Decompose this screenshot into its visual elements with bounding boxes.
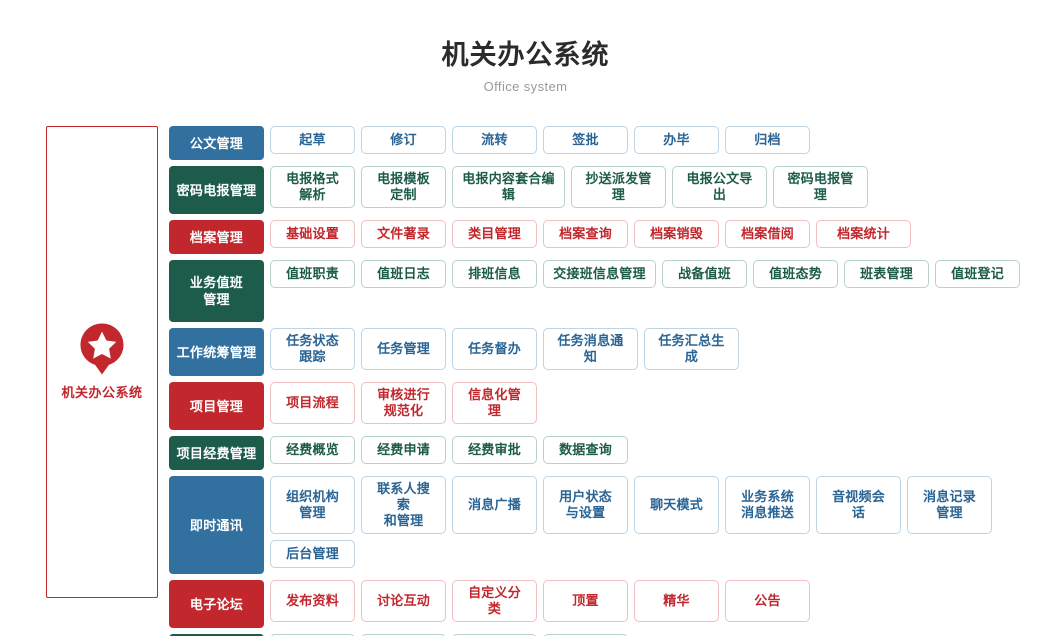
- page-root: 机关办公系统 Office system 机关办公系统 公文管理起草修订流转签批…: [0, 0, 1051, 636]
- module-item-button[interactable]: 战备值班: [662, 260, 747, 288]
- module-item-button[interactable]: 消息记录 管理: [907, 476, 992, 534]
- module-item-button[interactable]: 签批: [543, 126, 628, 154]
- map-pin-star-icon: [79, 323, 125, 375]
- module-item-button[interactable]: 任务汇总生成: [644, 328, 739, 370]
- module-row: 密码电报管理电报格式解析电报模板定制电报内容套合编辑抄送派发管理电报公文导出密码…: [169, 166, 1039, 214]
- module-row: 项目经费管理经费概览经费申请经费审批数据查询: [169, 436, 1039, 470]
- module-item-group: 项目流程审核进行规范化信息化管理: [270, 382, 1039, 430]
- category-button[interactable]: 档案管理: [169, 220, 264, 254]
- category-button[interactable]: 密码电报管理: [169, 166, 264, 214]
- page-title: 机关办公系统: [0, 38, 1051, 72]
- module-item-button[interactable]: 消息广播: [452, 476, 537, 534]
- module-item-button[interactable]: 值班日志: [361, 260, 446, 288]
- module-item-button[interactable]: 值班态势: [753, 260, 838, 288]
- module-item-button[interactable]: 档案借阅: [725, 220, 810, 248]
- category-button[interactable]: 即时通讯: [169, 476, 264, 574]
- category-button[interactable]: 公文管理: [169, 126, 264, 160]
- module-item-button[interactable]: 电报公文导出: [672, 166, 767, 208]
- module-item-button[interactable]: 档案销毁: [634, 220, 719, 248]
- module-item-button[interactable]: 经费审批: [452, 436, 537, 464]
- module-item-button[interactable]: 组织机构 管理: [270, 476, 355, 534]
- module-row: 即时通讯组织机构 管理联系人搜索 和管理消息广播用户状态 与设置聊天模式业务系统…: [169, 476, 1039, 574]
- module-item-button[interactable]: 修订: [361, 126, 446, 154]
- module-item-button[interactable]: 类目管理: [452, 220, 537, 248]
- module-item-button[interactable]: 自定义分类: [452, 580, 537, 622]
- module-item-button[interactable]: 任务督办: [452, 328, 537, 370]
- category-button[interactable]: 业务值班 管理: [169, 260, 264, 322]
- category-button[interactable]: 工作统筹管理: [169, 328, 264, 376]
- page-header: 机关办公系统 Office system: [0, 0, 1051, 96]
- module-item-group: 经费概览经费申请经费审批数据查询: [270, 436, 1039, 470]
- module-item-group: 值班职责值班日志排班信息交接班信息管理战备值班值班态势班表管理值班登记: [270, 260, 1039, 322]
- category-button[interactable]: 电子论坛: [169, 580, 264, 628]
- brand-logo-label: 机关办公系统: [61, 382, 142, 401]
- module-item-button[interactable]: 业务系统 消息推送: [725, 476, 810, 534]
- category-button[interactable]: 项目管理: [169, 382, 264, 430]
- module-row: 项目管理项目流程审核进行规范化信息化管理: [169, 382, 1039, 430]
- sidebar-brand-panel: 机关办公系统: [46, 126, 158, 598]
- module-rows: 公文管理起草修订流转签批办毕归档密码电报管理电报格式解析电报模板定制电报内容套合…: [169, 126, 1039, 636]
- module-item-group: 发布资料讨论互动自定义分类顶置精华公告: [270, 580, 1039, 628]
- module-item-button[interactable]: 联系人搜索 和管理: [361, 476, 446, 534]
- module-item-group: 电报格式解析电报模板定制电报内容套合编辑抄送派发管理电报公文导出密码电报管理: [270, 166, 1039, 214]
- module-item-button[interactable]: 经费申请: [361, 436, 446, 464]
- module-item-button[interactable]: 讨论互动: [361, 580, 446, 622]
- module-item-button[interactable]: 文件著录: [361, 220, 446, 248]
- module-item-button[interactable]: 公告: [725, 580, 810, 622]
- module-item-button[interactable]: 项目流程: [270, 382, 355, 424]
- module-item-button[interactable]: 精华: [634, 580, 719, 622]
- module-item-button[interactable]: 值班登记: [935, 260, 1020, 288]
- module-item-button[interactable]: 值班职责: [270, 260, 355, 288]
- module-item-group: 起草修订流转签批办毕归档: [270, 126, 1039, 160]
- module-item-button[interactable]: 班表管理: [844, 260, 929, 288]
- module-row: 工作统筹管理任务状态跟踪任务管理任务督办任务消息通知任务汇总生成: [169, 328, 1039, 376]
- module-item-group: 组织机构 管理联系人搜索 和管理消息广播用户状态 与设置聊天模式业务系统 消息推…: [270, 476, 1039, 574]
- module-row: 公文管理起草修订流转签批办毕归档: [169, 126, 1039, 160]
- module-row: 业务值班 管理值班职责值班日志排班信息交接班信息管理战备值班值班态势班表管理值班…: [169, 260, 1039, 322]
- module-item-button[interactable]: 基础设置: [270, 220, 355, 248]
- brand-logo: 机关办公系统: [61, 323, 142, 401]
- module-item-button[interactable]: 后台管理: [270, 540, 355, 568]
- module-item-button[interactable]: 审核进行规范化: [361, 382, 446, 424]
- module-item-button[interactable]: 聊天模式: [634, 476, 719, 534]
- module-item-button[interactable]: 办毕: [634, 126, 719, 154]
- module-item-button[interactable]: 经费概览: [270, 436, 355, 464]
- module-item-button[interactable]: 信息化管理: [452, 382, 537, 424]
- module-item-button[interactable]: 顶置: [543, 580, 628, 622]
- module-row: 档案管理基础设置文件著录类目管理档案查询档案销毁档案借阅档案统计: [169, 220, 1039, 254]
- module-item-button[interactable]: 流转: [452, 126, 537, 154]
- module-item-button[interactable]: 数据查询: [543, 436, 628, 464]
- module-item-button[interactable]: 用户状态 与设置: [543, 476, 628, 534]
- module-item-button[interactable]: 音视频会话: [816, 476, 901, 534]
- category-button[interactable]: 项目经费管理: [169, 436, 264, 470]
- module-item-group: 任务状态跟踪任务管理任务督办任务消息通知任务汇总生成: [270, 328, 1039, 376]
- module-item-button[interactable]: 电报模板定制: [361, 166, 446, 208]
- module-item-button[interactable]: 电报格式解析: [270, 166, 355, 208]
- module-item-button[interactable]: 排班信息: [452, 260, 537, 288]
- module-item-button[interactable]: 电报内容套合编辑: [452, 166, 565, 208]
- module-item-button[interactable]: 任务消息通知: [543, 328, 638, 370]
- module-item-button[interactable]: 抄送派发管理: [571, 166, 666, 208]
- module-item-button[interactable]: 发布资料: [270, 580, 355, 622]
- architecture-body: 机关办公系统 公文管理起草修订流转签批办毕归档密码电报管理电报格式解析电报模板定…: [0, 126, 1051, 606]
- module-item-button[interactable]: 任务状态跟踪: [270, 328, 355, 370]
- module-item-button[interactable]: 档案统计: [816, 220, 911, 248]
- module-item-button[interactable]: 档案查询: [543, 220, 628, 248]
- page-subtitle: Office system: [0, 78, 1051, 96]
- module-item-button[interactable]: 起草: [270, 126, 355, 154]
- module-row: 电子论坛发布资料讨论互动自定义分类顶置精华公告: [169, 580, 1039, 628]
- module-item-button[interactable]: 任务管理: [361, 328, 446, 370]
- module-item-button[interactable]: 交接班信息管理: [543, 260, 656, 288]
- module-item-group: 基础设置文件著录类目管理档案查询档案销毁档案借阅档案统计: [270, 220, 1039, 254]
- module-item-button[interactable]: 密码电报管理: [773, 166, 868, 208]
- module-item-button[interactable]: 归档: [725, 126, 810, 154]
